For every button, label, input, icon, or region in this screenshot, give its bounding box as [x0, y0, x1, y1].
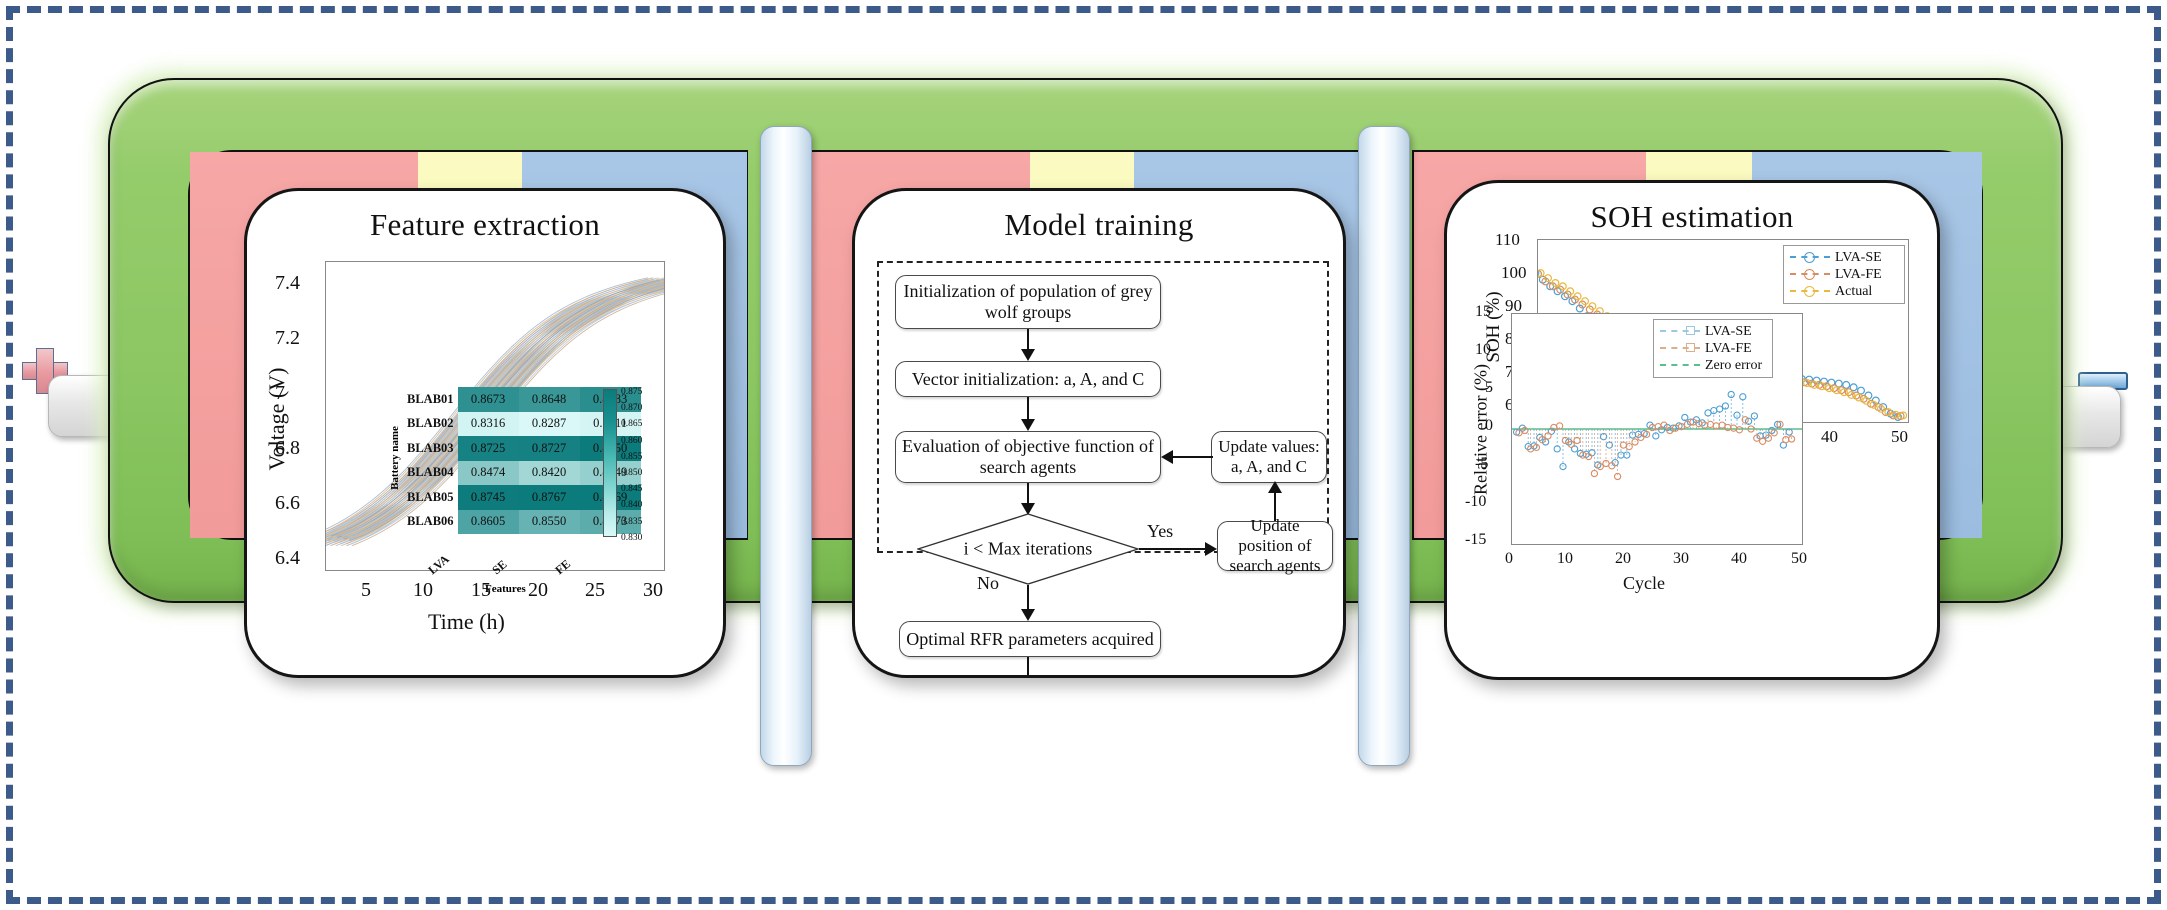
soh-legend-item-fe: LVA-FE	[1790, 266, 1898, 283]
chart-feature-heatmap: BLAB010.86730.86480.8683BLAB020.83160.82…	[407, 387, 641, 534]
voltage-xtick: 20	[528, 579, 548, 602]
flow-node-vector-init[interactable]: Vector initialization: a, A, and C	[895, 361, 1161, 397]
relerr-xtick: 20	[1615, 550, 1631, 568]
heatmap-cell: 0.8420	[519, 461, 580, 486]
relerr-legend-item-fe: LVA-FE	[1660, 340, 1766, 357]
heatmap-xaxis-title: Features	[485, 583, 526, 595]
heatmap-colorbar	[603, 389, 617, 537]
chart-relative-error: 15 10 5 0 -5 -10 -15 0 10 20 30 40 50 Cy…	[1447, 307, 1877, 677]
soh-xtick: 50	[1891, 427, 1908, 447]
flow-node-update-position[interactable]: Update position of search agents	[1217, 521, 1333, 571]
flow-arrow-yes	[1139, 548, 1207, 550]
flow-arrowhead-3	[1161, 450, 1173, 464]
relerr-xtick: 10	[1557, 550, 1573, 568]
heatmap-cell: 0.8745	[458, 485, 519, 510]
heatmap-cell: 0.8605	[458, 510, 519, 535]
voltage-ytick: 7.2	[275, 327, 300, 350]
flow-arrow-4	[1027, 483, 1029, 505]
voltage-xtick: 10	[413, 579, 433, 602]
flow-node-optimal-params[interactable]: Optimal RFR parameters acquired	[899, 621, 1161, 657]
soh-legend-item-se: LVA-SE	[1790, 249, 1898, 266]
cell-connector-post-2	[1358, 126, 1410, 766]
soh-legend: LVA-SE LVA-FE Actual	[1783, 245, 1905, 304]
heatmap-cell: 0.8474	[458, 461, 519, 486]
relerr-legend-item-se: LVA-SE	[1660, 323, 1766, 340]
relerr-xtick: 0	[1505, 550, 1513, 568]
voltage-xtick: 25	[585, 579, 605, 602]
voltage-xtick: 5	[361, 579, 371, 602]
heatmap-colorbar-tick: 0.875	[621, 387, 642, 397]
voltage-ytick: 7.4	[275, 272, 300, 295]
relerr-point	[1740, 394, 1746, 400]
voltage-ytick: 6.6	[275, 492, 300, 515]
relerr-yaxis-title: Relative error (%)	[1471, 330, 1492, 530]
soh-ytick: 110	[1495, 230, 1520, 250]
soh-legend-label: Actual	[1835, 284, 1872, 300]
relerr-xtick: 40	[1731, 550, 1747, 568]
flow-arrowhead-2	[1021, 419, 1035, 431]
flow-node-decision[interactable]: i < Max iterations	[917, 513, 1139, 585]
heatmap-row-label: BLAB05	[407, 485, 458, 510]
flow-node-evaluate-objective[interactable]: Evaluation of objective function of sear…	[895, 431, 1161, 483]
heatmap-colorbar-tick: 0.870	[621, 403, 642, 413]
flow-arrow-5	[1027, 657, 1029, 678]
relerr-legend-item-zero: Zero error	[1660, 357, 1766, 374]
heatmap-cell: 0.8673	[458, 387, 519, 412]
flow-label-yes: Yes	[1147, 521, 1173, 542]
heatmap-yaxis-title: Battery name	[389, 403, 401, 513]
cell-connector-post-1	[760, 126, 812, 766]
heatmap-cell: 0.8648	[519, 387, 580, 412]
flow-node-update-values[interactable]: Update values: a, A, and C	[1211, 431, 1327, 483]
relerr-point	[1760, 438, 1766, 444]
soh-legend-item-actual: Actual	[1790, 283, 1898, 300]
flow-label-no: No	[977, 573, 999, 594]
flow-arrowhead-feedback	[1268, 481, 1282, 493]
heatmap-row-label: BLAB02	[407, 412, 458, 437]
panel-soh-estimation: SOH estimation 110 100 90 80 70 60 SOH (…	[1444, 180, 1940, 680]
heatmap-row-label: BLAB04	[407, 461, 458, 486]
voltage-xaxis-title: Time (h)	[428, 609, 505, 635]
panel-model-training: Model training Initialization of populat…	[852, 188, 1346, 678]
relerr-legend-label: LVA-FE	[1705, 341, 1752, 357]
relerr-xaxis-title: Cycle	[1623, 573, 1665, 594]
relerr-xtick: 30	[1673, 550, 1689, 568]
heatmap-colorbar-tick: 0.855	[621, 452, 642, 462]
flow-node-init-population[interactable]: Initialization of population of grey wol…	[895, 275, 1161, 329]
heatmap-colorbar-tick: 0.830	[621, 533, 642, 543]
heatmap-cell: 0.8316	[458, 412, 519, 437]
relerr-ytick: -15	[1465, 531, 1486, 549]
heatmap-cell: 0.8727	[519, 436, 580, 461]
flow-arrow-2	[1027, 397, 1029, 421]
soh-legend-label: LVA-FE	[1835, 267, 1882, 283]
heatmap-colorbar-tick: 0.860	[621, 436, 642, 446]
voltage-yaxis-title: Voltage (V)	[264, 349, 290, 489]
flow-node-decision-label: i < Max iterations	[917, 539, 1139, 560]
figure-canvas: Feature extraction 7.4 7.2 7 6.8 6.6 6.4…	[0, 0, 2167, 910]
heatmap-colorbar-tick: 0.865	[621, 419, 642, 429]
heatmap-colorbar-tick: 0.850	[621, 468, 642, 478]
heatmap-row-label: BLAB06	[407, 510, 458, 535]
heatmap-cell: 0.8725	[458, 436, 519, 461]
relerr-xtick: 50	[1791, 550, 1807, 568]
heatmap-row-label: BLAB01	[407, 387, 458, 412]
heatmap-colorbar-tick: 0.835	[621, 517, 642, 527]
voltage-ytick: 6.4	[275, 547, 300, 570]
heatmap-cell: 0.8767	[519, 485, 580, 510]
flow-arrowhead-yes	[1205, 542, 1217, 556]
heatmap-colorbar-tick: 0.840	[621, 500, 642, 510]
flow-arrow-no	[1027, 585, 1029, 611]
soh-legend-label: LVA-SE	[1835, 250, 1882, 266]
flow-arrow-3	[1173, 456, 1213, 458]
heatmap-colorbar-tick: 0.845	[621, 484, 642, 494]
flow-arrowhead-1	[1021, 349, 1035, 361]
voltage-xtick: 30	[643, 579, 663, 602]
heatmap-cell: 0.8287	[519, 412, 580, 437]
panel-feature-extraction: Feature extraction 7.4 7.2 7 6.8 6.6 6.4…	[244, 188, 726, 678]
heatmap-row-label: BLAB03	[407, 436, 458, 461]
flow-arrowhead-no	[1021, 609, 1035, 621]
flow-arrow-1	[1027, 329, 1029, 351]
heatmap-cell: 0.8550	[519, 510, 580, 535]
relerr-legend-label: Zero error	[1705, 358, 1762, 374]
relerr-legend-label: LVA-SE	[1705, 324, 1752, 340]
panel-title-model-training: Model training	[855, 207, 1343, 243]
relerr-ytick: 15	[1475, 303, 1491, 321]
relerr-legend: LVA-SE LVA-FE Zero error	[1653, 319, 1773, 378]
